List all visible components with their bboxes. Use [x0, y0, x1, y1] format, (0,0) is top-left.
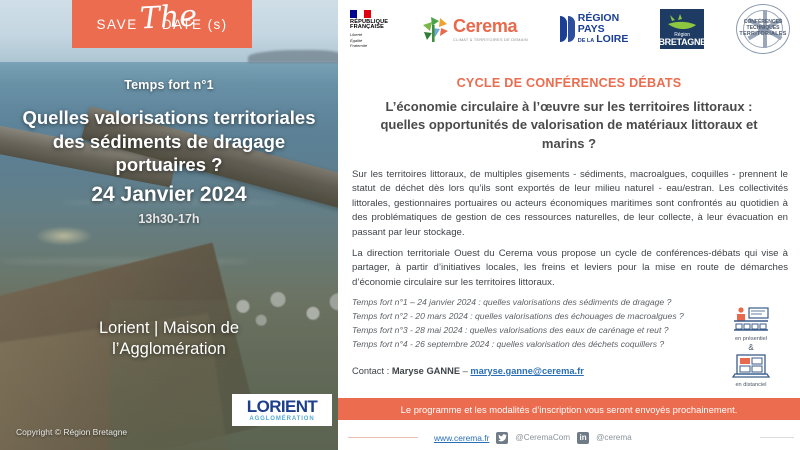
linkedin-icon[interactable]: in: [577, 432, 589, 444]
en-distanciel-icon: [730, 353, 772, 381]
cerema-website-link[interactable]: www.cerema.fr: [434, 433, 489, 443]
cerema-name: Cerema: [453, 17, 528, 35]
rpl-line3: LOIRE: [596, 34, 628, 45]
left-text-stack: Temps fort n°1 Quelles valorisations ter…: [0, 0, 338, 450]
french-flag-icon: [350, 10, 371, 18]
event-place: Lorient | Maison de l’Agglomération: [0, 318, 338, 361]
save-the-date-poster: SAVE DATE (s) The Temps fort n°1 Quelles…: [0, 0, 800, 450]
ctt-line2: TERRITORIALES: [730, 31, 796, 37]
conferences-techniques-territoriales-logo: CONFÉRENCES TECHNIQUES TERRITORIALES: [736, 4, 790, 54]
contact-dash: –: [463, 366, 468, 376]
paragraph-2: La direction territoriale Ouest du Cerem…: [352, 247, 788, 290]
announcement-text: Le programme et les modalités d’inscript…: [401, 404, 738, 415]
partner-logo-strip: RÉPUBLIQUE FRANÇAISE Liberté Égalité Fra…: [338, 0, 800, 54]
twitter-handle: @CeremaCom: [515, 433, 570, 442]
republique-francaise-logo: RÉPUBLIQUE FRANÇAISE Liberté Égalité Fra…: [350, 10, 388, 49]
twitter-icon[interactable]: [496, 432, 508, 444]
region-pays-de-la-loire-logo: RÉGION PAYS DE LA LOIRE: [560, 13, 629, 45]
cerema-logo: Cerema CLIMAT & TERRITOIRES DE DEMAIN: [420, 15, 528, 43]
lorient-logo-sub: AGGLOMÉRATION: [249, 416, 314, 422]
rpl-de: DE LA: [578, 39, 595, 45]
left-photo-panel: SAVE DATE (s) The Temps fort n°1 Quelles…: [0, 0, 338, 450]
participation-modes: en présentiel & en distanciel: [718, 305, 784, 388]
bretagne-name: BRETAGNE: [658, 38, 705, 47]
list-item: Temps fort n°2 - 20 mars 2024 : quelles …: [352, 310, 772, 324]
contact-email-link[interactable]: maryse.ganne@cerema.fr: [470, 366, 583, 376]
lorient-agglomeration-logo: LORIENT AGGLOMÉRATION: [232, 394, 332, 426]
en-distanciel-label: en distanciel: [718, 382, 784, 388]
event-hours: 13h30-17h: [0, 212, 338, 226]
contact-line: Contact : Maryse GANNE – maryse.ganne@ce…: [352, 366, 584, 376]
list-item: Temps fort n°1 – 24 janvier 2024 : quell…: [352, 296, 772, 310]
region-bretagne-logo: Région BRETAGNE: [660, 9, 704, 49]
session-list: Temps fort n°1 – 24 janvier 2024 : quell…: [352, 296, 772, 352]
pays-loire-arcs-icon: [560, 16, 575, 42]
announcement-bar: Le programme et les modalités d’inscript…: [338, 398, 800, 420]
rf-line2: FRANÇAISE: [350, 25, 384, 31]
kicker-temps-fort: Temps fort n°1: [0, 78, 338, 92]
cerema-star-icon: [420, 15, 450, 43]
en-presentiel-icon: [731, 305, 771, 335]
cerema-baseline: CLIMAT & TERRITOIRES DE DEMAIN: [453, 37, 528, 42]
contact-name: Maryse GANNE: [392, 366, 460, 376]
bretagne-bird-icon: [666, 13, 698, 32]
poster-title: Quelles valorisations territoriales des …: [0, 106, 338, 177]
footer-rule-right: [760, 437, 794, 438]
main-title: L’économie circulaire à l’œuvre sur les …: [362, 98, 776, 153]
footer-rule-left: [348, 437, 418, 438]
linkedin-handle: @cerema: [596, 433, 632, 442]
ctt-line1: CONFÉRENCES TECHNIQUES: [730, 20, 796, 31]
rf-motto: Liberté Égalité Fraternité: [350, 32, 367, 48]
cycle-label: CYCLE DE CONFÉRENCES DÉBATS: [338, 76, 800, 90]
list-item: Temps fort n°4 - 26 septembre 2024 : que…: [352, 338, 772, 352]
list-item: Temps fort n°3 - 28 mai 2024 : quelles v…: [352, 324, 772, 338]
lorient-logo-name: LORIENT: [247, 398, 317, 415]
event-date: 24 Janvier 2024: [0, 183, 338, 207]
footer-bar: www.cerema.fr @CeremaCom in @cerema: [338, 425, 800, 450]
en-presentiel-label: en présentiel: [718, 336, 784, 342]
paragraph-1: Sur les territoires littoraux, de multip…: [352, 168, 788, 240]
modes-ampersand: &: [718, 343, 784, 352]
photo-copyright: Copyright © Région Bretagne: [16, 427, 127, 437]
contact-label: Contact :: [352, 366, 389, 376]
